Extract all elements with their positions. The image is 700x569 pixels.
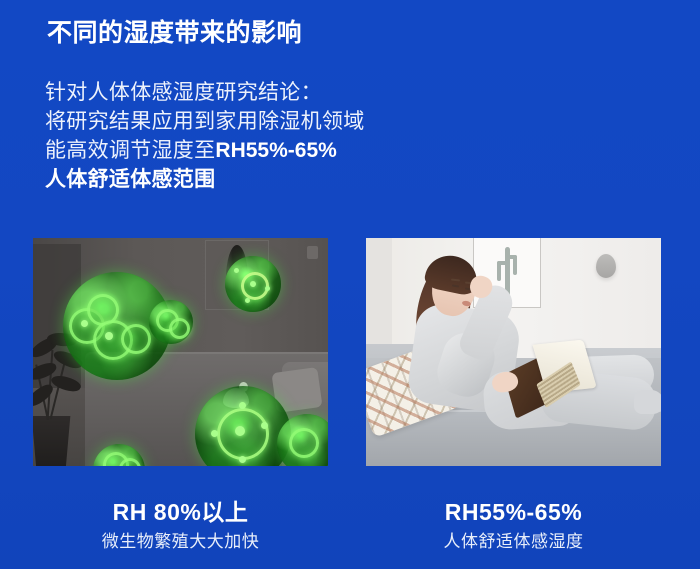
caption-comfort-humidity: RH55%-65% 人体舒适体感湿度 [366, 498, 661, 553]
page-title: 不同的湿度带来的影响 [47, 18, 302, 49]
wall-switch [307, 246, 318, 259]
plant-pot [33, 416, 73, 466]
caption-sub-label: 人体舒适体感湿度 [366, 530, 661, 553]
microbe-blob-floating [225, 256, 281, 312]
humidity-comparison-poster: 不同的湿度带来的影响 针对人体体感湿度研究结论： 将研究结果应用到家用除湿机领域… [0, 0, 700, 569]
intro-line-2: 将研究结果应用到家用除湿机领域 [45, 107, 365, 136]
panel-image-high-humidity [33, 238, 328, 466]
intro-line-4: 人体舒适体感范围 [45, 165, 365, 194]
bright-living-room-scene [366, 238, 661, 466]
microbe-blob-small [149, 300, 193, 344]
woman-reading [366, 238, 661, 466]
comparison-panels [0, 238, 700, 466]
caption-high-humidity: RH 80%以上 微生物繁殖大大加快 [33, 498, 328, 553]
intro-line-3: 能高效调节湿度至RH55%-65% [45, 136, 365, 165]
panel-image-comfort-humidity [366, 238, 661, 466]
caption-main-label: RH 80%以上 [33, 498, 328, 527]
plant-leaf [50, 372, 83, 394]
intro-line-1: 针对人体体感湿度研究结论： [45, 78, 365, 107]
caption-sub-label: 微生物繁殖大大加快 [33, 530, 328, 553]
foot [634, 390, 661, 414]
humidity-range-emphasis: RH55%-65% [215, 139, 336, 162]
intro-line-3-prefix: 能高效调节湿度至 [45, 139, 215, 162]
dark-living-room-scene [33, 238, 328, 466]
intro-paragraph: 针对人体体感湿度研究结论： 将研究结果应用到家用除湿机领域 能高效调节湿度至RH… [45, 78, 365, 194]
caption-main-label: RH55%-65% [366, 498, 661, 527]
